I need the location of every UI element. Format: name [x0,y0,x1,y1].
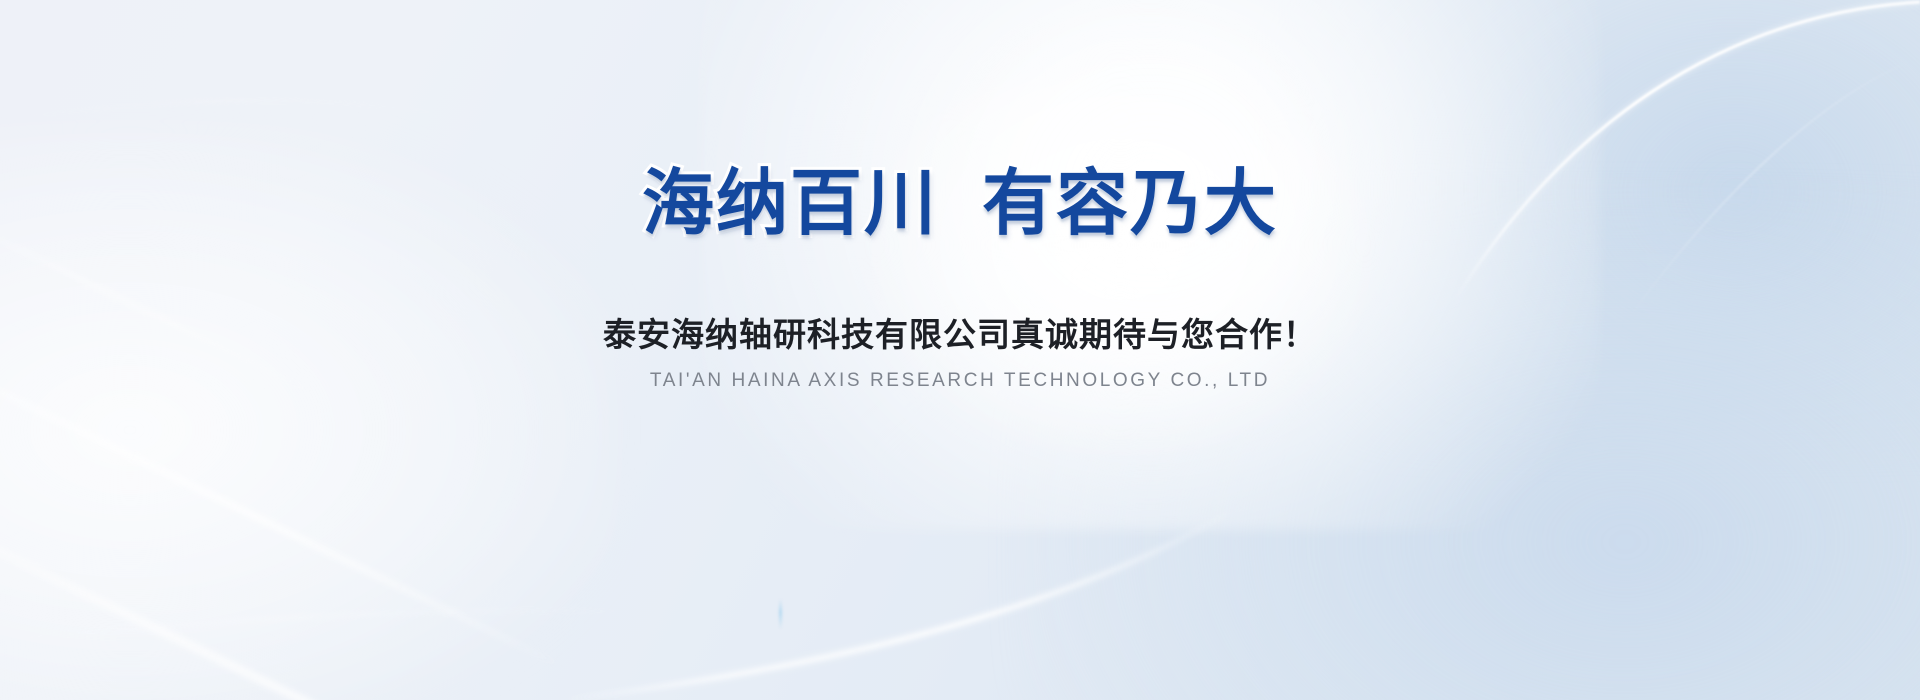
banner-subtitle-english: TAI'AN HAINA AXIS RESEARCH TECHNOLOGY CO… [650,370,1270,392]
banner-subtitle-chinese: 泰安海纳轴研科技有限公司真诚期待与您合作！ [603,308,1317,356]
banner-headline: 海纳百川 有容乃大 [642,168,1278,240]
banner-content: 海纳百川 有容乃大 泰安海纳轴研科技有限公司真诚期待与您合作！ TAI'AN H… [0,0,1920,700]
hero-banner: 海纳百川 有容乃大 泰安海纳轴研科技有限公司真诚期待与您合作！ TAI'AN H… [0,0,1920,700]
